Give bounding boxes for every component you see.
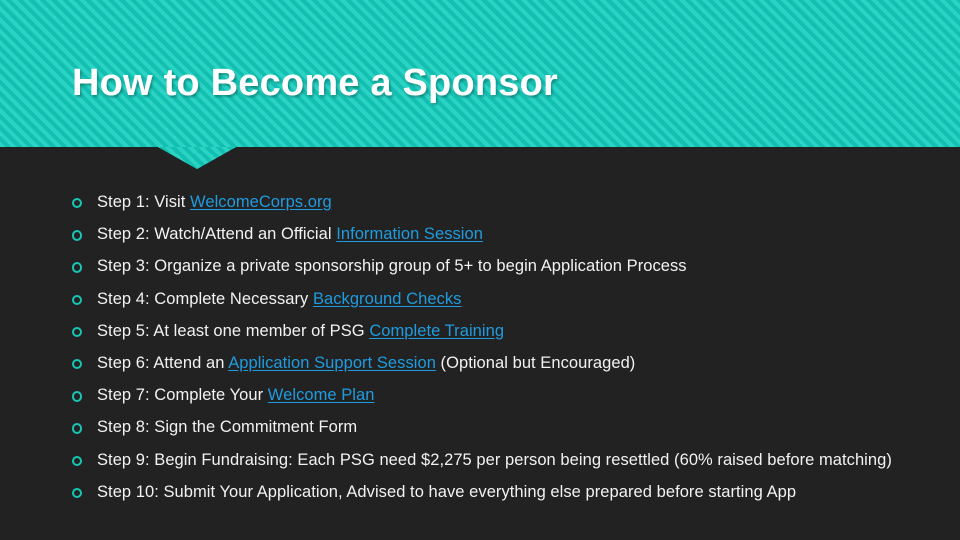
text-run: Step 2: Watch/Attend an Official	[97, 225, 336, 243]
list-item: Step 3: Organize a private sponsorship g…	[72, 256, 928, 277]
slide: How to Become a Sponsor Step 1: Visit We…	[0, 0, 960, 540]
text-run: Step 8: Sign the Commitment Form	[97, 418, 357, 436]
text-run: Step 4: Complete Necessary	[97, 290, 313, 308]
circle-bullet-icon	[72, 295, 82, 305]
list-item: Step 10: Submit Your Application, Advise…	[72, 482, 928, 503]
list-item: Step 4: Complete Necessary Background Ch…	[72, 289, 928, 310]
list-item-text: Step 1: Visit WelcomeCorps.org	[97, 192, 928, 213]
hyperlink[interactable]: Welcome Plan	[268, 386, 375, 404]
hyperlink[interactable]: Application Support Session	[228, 354, 436, 372]
hyperlink[interactable]: Background Checks	[313, 290, 462, 308]
banner-notch-triangle	[158, 147, 236, 169]
page-title: How to Become a Sponsor	[72, 60, 558, 106]
list-item-text: Step 9: Begin Fundraising: Each PSG need…	[97, 450, 928, 471]
list-item: Step 6: Attend an Application Support Se…	[72, 353, 928, 374]
list-item-text: Step 6: Attend an Application Support Se…	[97, 353, 928, 374]
list-item-text: Step 7: Complete Your Welcome Plan	[97, 385, 928, 406]
list-item: Step 9: Begin Fundraising: Each PSG need…	[72, 450, 928, 471]
circle-bullet-icon	[72, 230, 82, 240]
hyperlink[interactable]: Complete Training	[369, 322, 504, 340]
circle-bullet-icon	[72, 423, 82, 433]
list-item: Step 7: Complete Your Welcome Plan	[72, 385, 928, 406]
circle-bullet-icon	[72, 327, 82, 337]
circle-bullet-icon	[72, 456, 82, 466]
list-item-text: Step 8: Sign the Commitment Form	[97, 417, 928, 438]
list-item: Step 1: Visit WelcomeCorps.org	[72, 192, 928, 213]
text-run: Step 9: Begin Fundraising: Each PSG need…	[97, 451, 892, 469]
list-item: Step 5: At least one member of PSG Compl…	[72, 321, 928, 342]
circle-bullet-icon	[72, 488, 82, 498]
list-item-text: Step 10: Submit Your Application, Advise…	[97, 482, 928, 503]
text-run: Step 3: Organize a private sponsorship g…	[97, 257, 687, 275]
list-item-text: Step 4: Complete Necessary Background Ch…	[97, 289, 928, 310]
text-run: Step 10: Submit Your Application, Advise…	[97, 483, 796, 501]
list-item: Step 2: Watch/Attend an Official Informa…	[72, 224, 928, 245]
text-run: Step 7: Complete Your	[97, 386, 268, 404]
text-run: Step 5: At least one member of PSG	[97, 322, 369, 340]
hyperlink[interactable]: WelcomeCorps.org	[190, 193, 332, 211]
circle-bullet-icon	[72, 391, 82, 401]
hyperlink[interactable]: Information Session	[336, 225, 483, 243]
list-item-text: Step 2: Watch/Attend an Official Informa…	[97, 224, 928, 245]
steps-list: Step 1: Visit WelcomeCorps.orgStep 2: Wa…	[72, 192, 928, 503]
text-run: (Optional but Encouraged)	[436, 354, 635, 372]
circle-bullet-icon	[72, 359, 82, 369]
text-run: Step 1: Visit	[97, 193, 190, 211]
circle-bullet-icon	[72, 198, 82, 208]
circle-bullet-icon	[72, 262, 82, 272]
list-item: Step 8: Sign the Commitment Form	[72, 417, 928, 438]
text-run: Step 6: Attend an	[97, 354, 228, 372]
list-item-text: Step 3: Organize a private sponsorship g…	[97, 256, 928, 277]
list-item-text: Step 5: At least one member of PSG Compl…	[97, 321, 928, 342]
